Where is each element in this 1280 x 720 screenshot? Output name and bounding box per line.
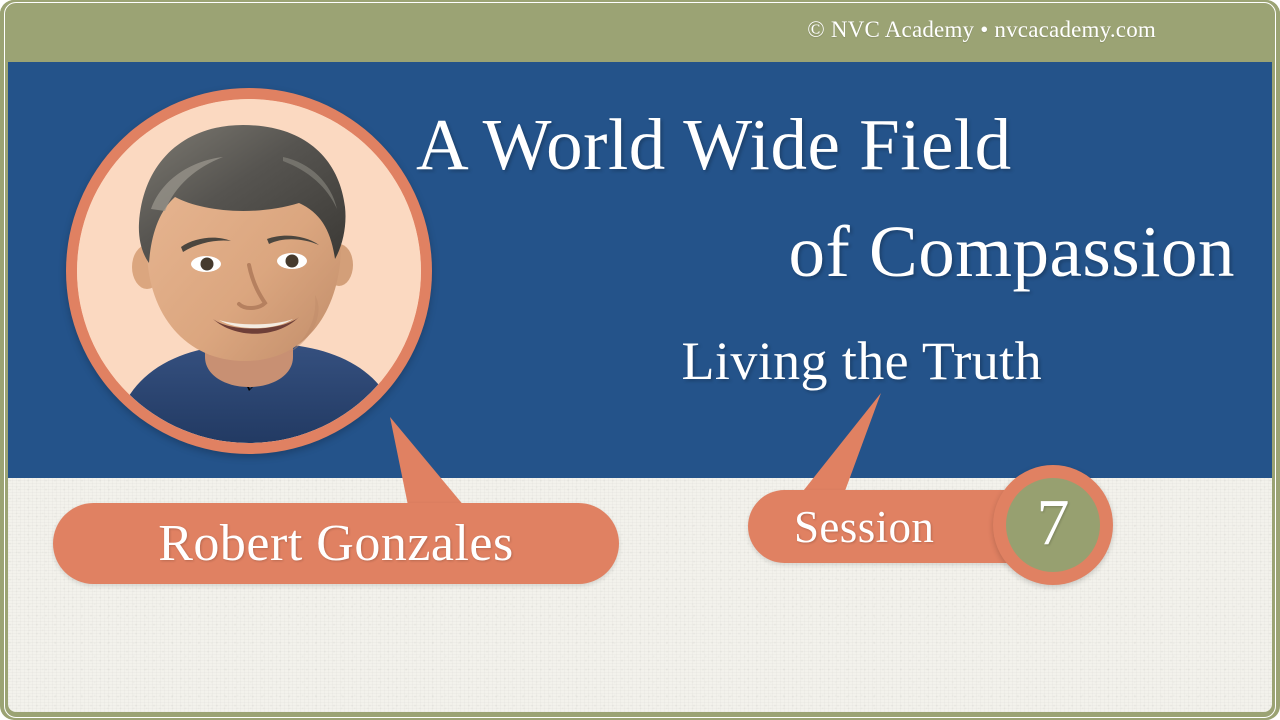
session-number-value: 7 [1037,490,1070,556]
session-number-badge: 7 [993,465,1113,585]
presenter-name-label: Robert Gonzales [158,514,514,573]
presenter-name-pill: Robert Gonzales [53,503,619,584]
slide-canvas: © NVC Academy • nvcacademy.com [0,0,1280,720]
presenter-portrait [66,88,432,454]
session-number-circle: 7 [1006,478,1100,572]
portrait-photo [77,99,421,443]
session-label: Session [794,501,934,553]
copyright-notice: © NVC Academy • nvcacademy.com [807,17,1156,43]
slide-subtitle: Living the Truth [410,330,1042,392]
portrait-illustration [77,99,421,443]
